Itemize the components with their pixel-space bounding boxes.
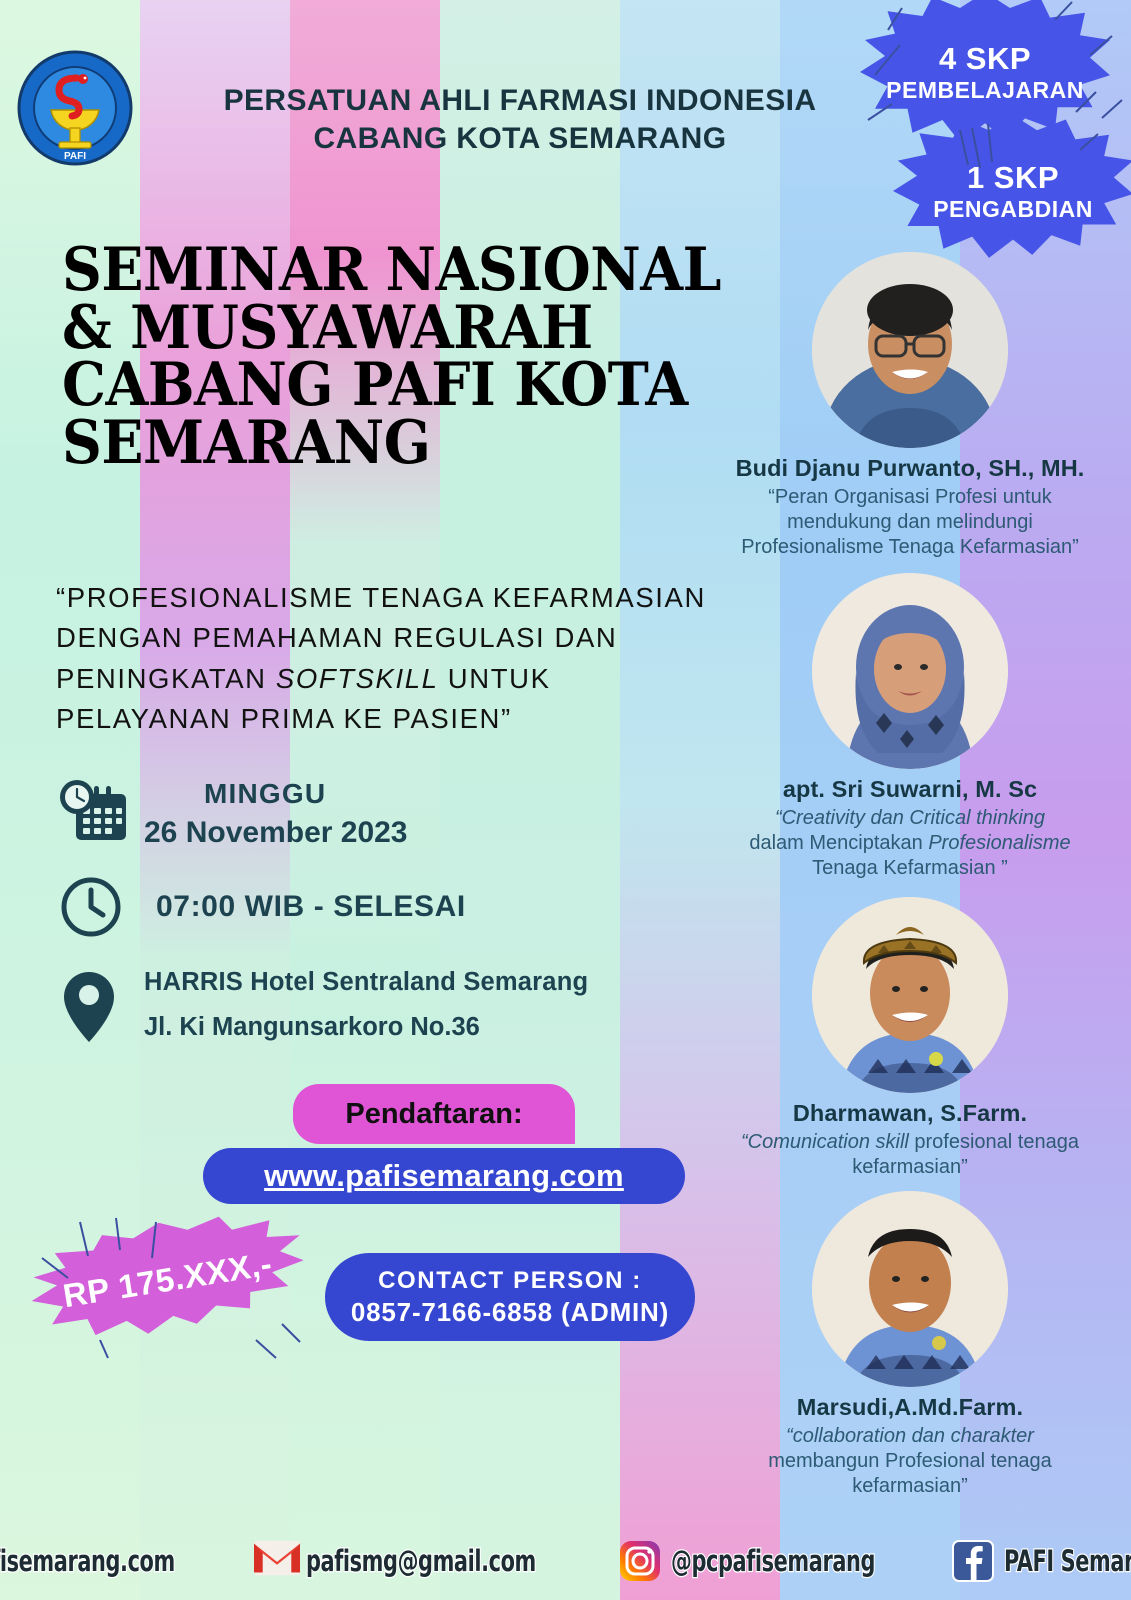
speaker-quote: “Comunication skill profesional tenaga k…: [700, 1130, 1120, 1180]
event-details: MINGGU 26 November 2023 07:00 WIB - SELE…: [58, 778, 698, 1046]
footer-instagram-text: @pcpafisemarang: [671, 1544, 875, 1578]
theme-line-2: DENGAN PEMAHAMAN REGULASI DAN: [56, 618, 796, 658]
theme-l3-pre: PENINGKATAN: [56, 663, 276, 694]
quote-emphasis: “collaboration dan charakter: [786, 1425, 1034, 1447]
quote-emphasis: “Creativity dan Critical thinking: [775, 807, 1045, 829]
pafi-logo-icon: PAFI: [15, 48, 135, 168]
theme-l3-emphasis: SOFTSKILL: [276, 663, 439, 694]
event-date: 26 November 2023: [144, 816, 408, 850]
event-time: 07:00 WIB - SELESAI: [156, 890, 466, 924]
avatar: [812, 897, 1008, 1093]
quote-line: membangun Profesional tenaga: [712, 1449, 1108, 1474]
badge-value: 4 SKP: [886, 41, 1084, 77]
quote-line: mendukung dan melindungi: [712, 510, 1108, 535]
speaker-card: Marsudi,A.Md.Farm. “collaboration dan ch…: [700, 1191, 1120, 1500]
org-line-2: CABANG KOTA SEMARANG: [160, 120, 880, 158]
speaker-card: Budi Djanu Purwanto, SH., MH. “Peran Org…: [700, 252, 1120, 561]
quote-emphasis: Profesionalisme: [928, 832, 1070, 854]
theme-line-3: PENINGKATAN SOFTSKILL UNTUK: [56, 659, 796, 699]
theme-l3-post: UNTUK: [439, 663, 551, 694]
quote-text: profesional tenaga: [909, 1131, 1079, 1153]
quote-line: “Creativity dan Critical thinking: [712, 806, 1108, 831]
page-title: SEMINAR NASIONAL & MUSYAWARAH CABANG PAF…: [62, 242, 706, 472]
facebook-icon: [952, 1540, 994, 1582]
theme-line-1: “PROFESIONALISME TENAGA KEFARMASIAN: [56, 578, 796, 618]
footer-facebook-item[interactable]: PAFI Semarang: [952, 1540, 1131, 1582]
clock-icon: [58, 874, 144, 940]
event-address: Jl. Ki Mangunsarkoro No.36: [144, 1013, 588, 1042]
speaker-quote: “Peran Organisasi Profesi untuk mendukun…: [700, 485, 1120, 561]
avatar: [812, 1191, 1008, 1387]
avatar: [812, 573, 1008, 769]
avatar: [812, 252, 1008, 448]
quote-line: Profesionalisme Tenaga Kefarmasian”: [712, 535, 1108, 560]
org-line-1: PERSATUAN AHLI FARMASI INDONESIA: [160, 82, 880, 120]
speaker-quote: “collaboration dan charakter membangun P…: [700, 1424, 1120, 1500]
event-date-text: MINGGU 26 November 2023: [144, 778, 408, 850]
quote-line: “collaboration dan charakter: [712, 1424, 1108, 1449]
title-line-1: SEMINAR NASIONAL: [62, 242, 706, 300]
registration-label: Pendaftaran:: [293, 1084, 575, 1144]
title-line-3: CABANG PAFI KOTA: [62, 357, 706, 415]
quote-text: dalam Menciptakan: [749, 832, 928, 854]
footer-social-bar: pafisemarang.com pafismg@gmail.com: [0, 1540, 1131, 1582]
badge-label: PENGABDIAN: [933, 196, 1093, 223]
speaker-card: Dharmawan, S.Farm. “Comunication skill p…: [700, 897, 1120, 1180]
instagram-icon: [619, 1540, 661, 1582]
contact-number: 0857-7166-6858 (ADMIN): [351, 1296, 669, 1329]
event-venue: HARRIS Hotel Sentraland Semarang: [144, 968, 588, 997]
organization-title: PERSATUAN AHLI FARMASI INDONESIA CABANG …: [160, 82, 880, 159]
gmail-icon: [254, 1540, 296, 1582]
speaker-quote: “Creativity dan Critical thinking dalam …: [700, 806, 1120, 882]
quote-line: Tenaga Kefarmasian ”: [712, 856, 1108, 881]
speaker-name: Dharmawan, S.Farm.: [700, 1100, 1120, 1127]
event-date-row: MINGGU 26 November 2023: [58, 778, 698, 850]
map-pin-icon: [58, 968, 144, 1046]
registration-url-button[interactable]: www.pafisemarang.com: [203, 1148, 685, 1204]
footer-facebook-text: PAFI Semarang: [1004, 1544, 1131, 1578]
badge-skp-pengabdian: 1 SKP PENGABDIAN: [893, 115, 1131, 267]
quote-line: “Peran Organisasi Profesi untuk: [712, 485, 1108, 510]
speaker-list: Budi Djanu Purwanto, SH., MH. “Peran Org…: [700, 252, 1120, 1505]
footer-instagram-item[interactable]: @pcpafisemarang: [619, 1540, 926, 1582]
contact-person-box[interactable]: CONTACT PERSON : 0857-7166-6858 (ADMIN): [325, 1253, 695, 1341]
title-line-2: & MUSYAWARAH: [62, 300, 706, 358]
event-location-row: HARRIS Hotel Sentraland Semarang Jl. Ki …: [58, 968, 698, 1046]
footer-email-text: pafismg@gmail.com: [306, 1544, 536, 1578]
badge-value: 1 SKP: [933, 160, 1093, 196]
quote-line: “Comunication skill profesional tenaga: [712, 1130, 1108, 1155]
contact-label: CONTACT PERSON :: [378, 1266, 642, 1296]
speaker-name: Marsudi,A.Md.Farm.: [700, 1394, 1120, 1421]
speaker-name: Budi Djanu Purwanto, SH., MH.: [700, 455, 1120, 482]
speaker-name: apt. Sri Suwarni, M. Sc: [700, 776, 1120, 803]
event-day: MINGGU: [204, 778, 408, 810]
theme-line-4: PELAYANAN PRIMA KE PASIEN”: [56, 699, 796, 739]
speaker-card: apt. Sri Suwarni, M. Sc “Creativity dan …: [700, 573, 1120, 882]
registration-label-text: Pendaftaran:: [345, 1098, 522, 1131]
svg-text:PAFI: PAFI: [64, 151, 86, 162]
quote-line: kefarmasian”: [712, 1474, 1108, 1499]
event-time-row: 07:00 WIB - SELESAI: [58, 874, 698, 940]
footer-website-text: pafisemarang.com: [0, 1544, 175, 1578]
footer-website-item[interactable]: pafisemarang.com: [0, 1540, 228, 1582]
registration-url-text: www.pafisemarang.com: [264, 1158, 624, 1194]
event-location-text: HARRIS Hotel Sentraland Semarang Jl. Ki …: [144, 968, 588, 1042]
footer-email-item[interactable]: pafismg@gmail.com: [254, 1540, 593, 1582]
quote-emphasis: “Comunication skill: [741, 1131, 909, 1153]
calendar-clock-icon: [58, 778, 144, 846]
quote-line: kefarmasian”: [712, 1155, 1108, 1180]
quote-line: dalam Menciptakan Profesionalisme: [712, 831, 1108, 856]
event-theme: “PROFESIONALISME TENAGA KEFARMASIAN DENG…: [56, 578, 796, 740]
title-line-4: SEMARANG: [62, 415, 706, 473]
poster-canvas: PAFI PERSATUAN AHLI FARMASI INDONESIA CA…: [0, 0, 1131, 1600]
badge-label: PEMBELAJARAN: [886, 77, 1084, 104]
